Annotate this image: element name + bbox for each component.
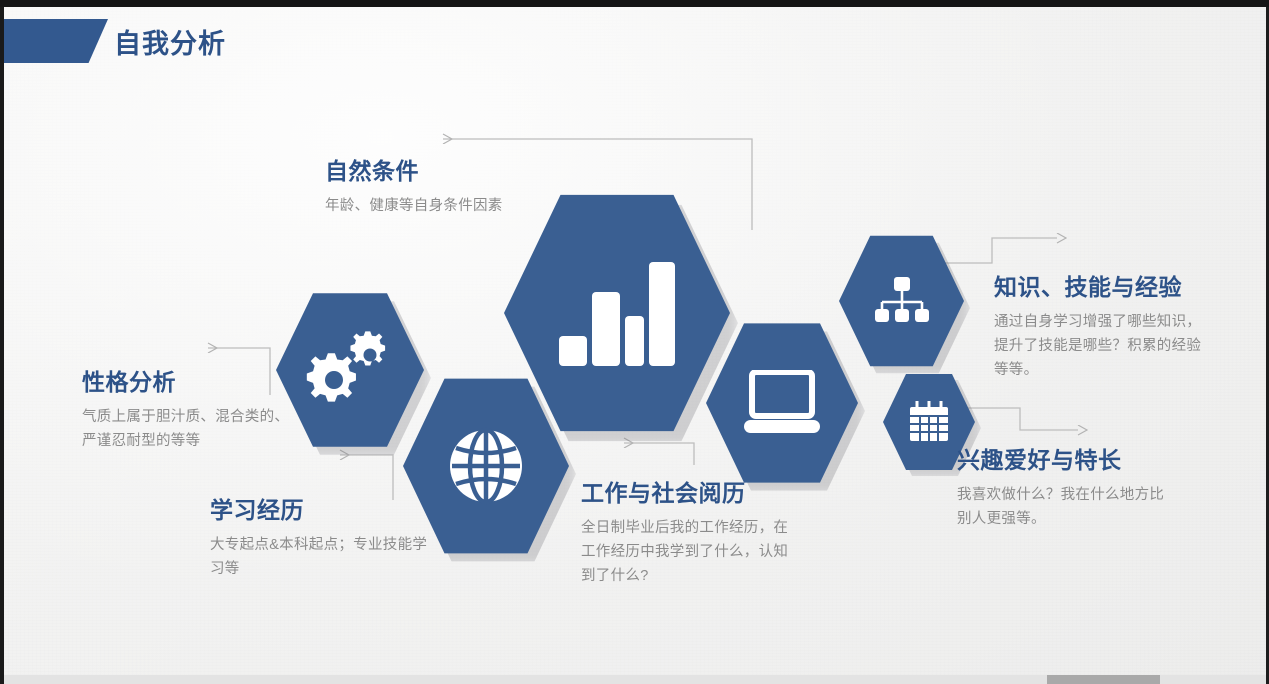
- label-title-interests-strengths: 兴趣爱好与特长: [957, 441, 1167, 475]
- label-desc-work-experience: 全日制毕业后我的工作经历，在工作经历中我学到了什么，认知到了什么?: [581, 517, 796, 589]
- label-title-personality-analysis: 性格分析: [82, 363, 302, 397]
- label-title-knowledge-skills: 知识、技能与经验: [994, 268, 1206, 302]
- label-desc-natural-conditions: 年龄、健康等自身条件因素: [325, 195, 615, 219]
- label-personality-analysis: 性格分析 气质上属于胆汁质、混合类的、严谨忍耐型的等等: [82, 363, 302, 454]
- label-knowledge-skills: 知识、技能与经验 通过自身学习增强了哪些知识，提升了技能是哪些？积累的经验等等。: [994, 268, 1206, 383]
- org-chart-icon: [873, 276, 931, 326]
- calendar-icon: [906, 399, 952, 445]
- window-top-edge: [0, 0, 1269, 7]
- page-title: 自我分析: [114, 22, 226, 61]
- label-desc-interests-strengths: 我喜欢做什么？我在什么地方比别人更强等。: [957, 484, 1167, 532]
- connector-work-experience: [624, 443, 694, 465]
- label-title-natural-conditions: 自然条件: [325, 152, 615, 186]
- bar-chart-icon: [555, 258, 679, 368]
- label-learning-experience: 学习经历 大专起点&本科起点；专业技能学习等: [210, 491, 432, 582]
- label-desc-knowledge-skills: 通过自身学习增强了哪些知识，提升了技能是哪些？积累的经验等等。: [994, 311, 1206, 383]
- label-title-work-experience: 工作与社会阅历: [581, 474, 796, 508]
- label-natural-conditions: 自然条件 年龄、健康等自身条件因素: [325, 152, 615, 219]
- gears-icon: [304, 330, 396, 410]
- label-desc-learning-experience: 大专起点&本科起点；专业技能学习等: [210, 534, 432, 582]
- title-accent-band: [0, 19, 108, 63]
- label-desc-personality-analysis: 气质上属于胆汁质、混合类的、严谨忍耐型的等等: [82, 406, 302, 454]
- slide-canvas: 自我分析: [0, 0, 1269, 684]
- horizontal-scrollbar-thumb[interactable]: [1047, 675, 1160, 684]
- window-left-edge: [0, 0, 4, 684]
- globe-icon: [444, 424, 528, 508]
- laptop-icon: [742, 370, 822, 436]
- label-work-experience: 工作与社会阅历 全日制毕业后我的工作经历，在工作经历中我学到了什么，认知到了什么…: [581, 474, 796, 589]
- label-title-learning-experience: 学习经历: [210, 491, 432, 525]
- label-interests-strengths: 兴趣爱好与特长 我喜欢做什么？我在什么地方比别人更强等。: [957, 441, 1167, 532]
